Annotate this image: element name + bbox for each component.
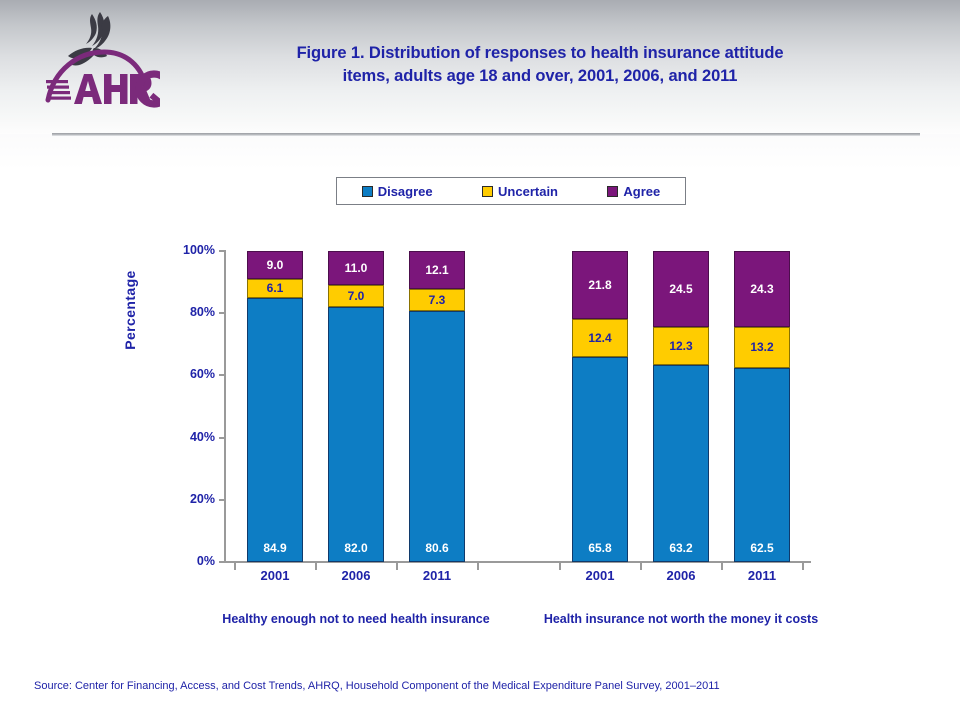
y-axis-tick-label: 40% (163, 430, 215, 444)
bar-stack[interactable]: 65.812.421.8 (572, 251, 628, 562)
bar-group-label: Health insurance not worth the money it … (544, 612, 818, 626)
x-axis-tick-mark (234, 563, 236, 570)
bar-stack[interactable]: 84.96.19.0 (247, 251, 303, 562)
legend-label-agree: Agree (623, 184, 660, 199)
x-axis-tick-mark (640, 563, 642, 570)
bar-segment-agree[interactable]: 21.8 (572, 251, 628, 319)
bar-stack[interactable]: 62.513.224.3 (734, 251, 790, 562)
bar-stack[interactable]: 63.212.324.5 (653, 251, 709, 562)
y-axis-tick-label: 60% (163, 367, 215, 381)
bar-segment-disagree[interactable]: 80.6 (409, 311, 465, 562)
bar-segment-disagree[interactable]: 82.0 (328, 307, 384, 562)
bar-segment-disagree[interactable]: 65.8 (572, 357, 628, 562)
x-axis-tick-mark (315, 563, 317, 570)
x-axis-tick-mark (396, 563, 398, 570)
bar-stack[interactable]: 80.67.312.1 (409, 251, 465, 562)
legend-item-uncertain[interactable]: Uncertain (482, 184, 558, 199)
bar-segment-agree[interactable]: 24.3 (734, 251, 790, 327)
x-axis-tick-label: 2001 (247, 568, 303, 583)
bar-stack[interactable]: 82.07.011.0 (328, 251, 384, 562)
y-axis-title: Percentage (122, 240, 142, 380)
x-axis-tick-mark (802, 563, 804, 570)
bar-segment-disagree[interactable]: 84.9 (247, 298, 303, 562)
x-axis-tick-label: 2001 (572, 568, 628, 583)
legend-item-disagree[interactable]: Disagree (362, 184, 433, 199)
x-axis-tick-label: 2006 (328, 568, 384, 583)
legend-label-uncertain: Uncertain (498, 184, 558, 199)
bar-segment-uncertain[interactable]: 7.3 (409, 289, 465, 312)
bar-segment-disagree[interactable]: 62.5 (734, 368, 790, 562)
legend-swatch-uncertain (482, 186, 493, 197)
x-axis-tick-mark (477, 563, 479, 570)
source-note: Source: Center for Financing, Access, an… (34, 680, 934, 692)
bar-segment-uncertain[interactable]: 7.0 (328, 285, 384, 307)
bar-segment-agree[interactable]: 12.1 (409, 251, 465, 289)
x-axis-tick-mark (721, 563, 723, 570)
bar-segment-disagree[interactable]: 63.2 (653, 365, 709, 562)
stacked-bar-chart: Disagree Uncertain Agree Percentage 0%20… (0, 0, 960, 720)
y-axis-tick-label: 100% (163, 243, 215, 257)
x-axis-tick-label: 2011 (409, 568, 465, 583)
chart-legend: Disagree Uncertain Agree (336, 177, 686, 205)
bar-segment-uncertain[interactable]: 6.1 (247, 279, 303, 298)
bar-segment-agree[interactable]: 11.0 (328, 251, 384, 285)
x-axis-tick-label: 2006 (653, 568, 709, 583)
x-axis-tick-label: 2011 (734, 568, 790, 583)
y-axis-line (224, 250, 226, 563)
y-axis-tick-label: 0% (163, 554, 215, 568)
bar-segment-uncertain[interactable]: 12.4 (572, 319, 628, 358)
bar-segment-uncertain[interactable]: 13.2 (734, 327, 790, 368)
legend-swatch-disagree (362, 186, 373, 197)
bar-segment-uncertain[interactable]: 12.3 (653, 327, 709, 365)
legend-swatch-agree (607, 186, 618, 197)
x-axis-tick-mark (559, 563, 561, 570)
bar-group-label: Healthy enough not to need health insura… (222, 612, 489, 626)
y-axis-tick-label: 80% (163, 305, 215, 319)
legend-item-agree[interactable]: Agree (607, 184, 660, 199)
legend-label-disagree: Disagree (378, 184, 433, 199)
bar-segment-agree[interactable]: 9.0 (247, 251, 303, 279)
y-axis-tick-label: 20% (163, 492, 215, 506)
bar-segment-agree[interactable]: 24.5 (653, 251, 709, 327)
